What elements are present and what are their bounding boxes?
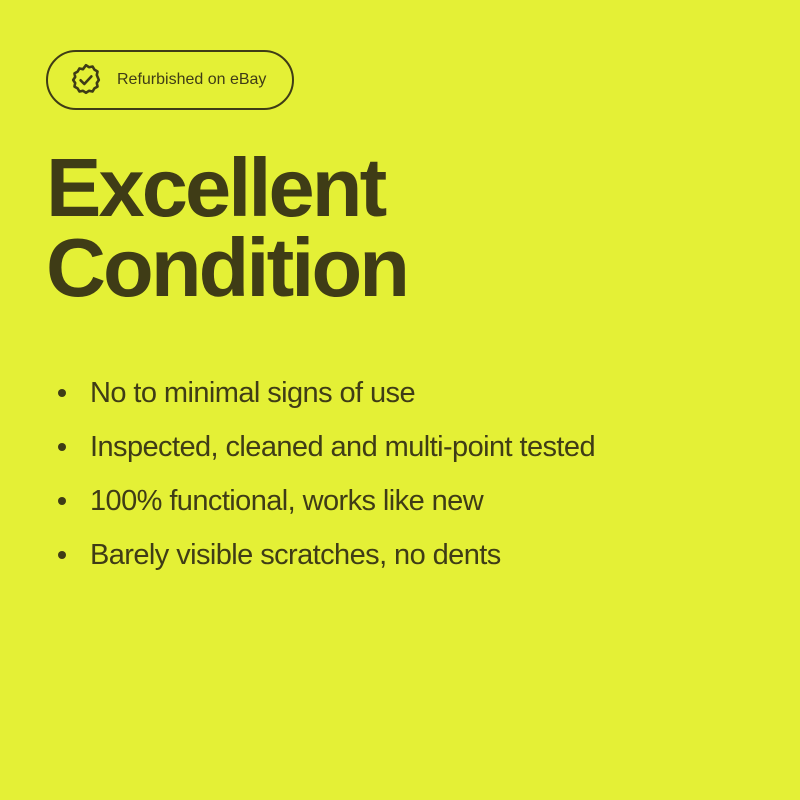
refurbished-badge[interactable]: Refurbished on eBay [46,50,294,110]
list-item: Inspected, cleaned and multi-point teste… [46,420,766,474]
bullet-dot-icon [58,551,66,559]
list-item: 100% functional, works like new [46,474,766,528]
refurbished-badge-label: Refurbished on eBay [117,71,266,89]
list-item: No to minimal signs of use [46,366,766,420]
condition-feature-list: No to minimal signs of use Inspected, cl… [46,366,766,582]
page-title-line-2: Condition [46,228,746,308]
list-item: Barely visible scratches, no dents [46,528,766,582]
bullet-dot-icon [58,443,66,451]
list-item-label: Inspected, cleaned and multi-point teste… [90,430,595,464]
list-item-label: 100% functional, works like new [90,484,483,518]
bullet-dot-icon [58,389,66,397]
list-item-label: Barely visible scratches, no dents [90,538,501,572]
bullet-dot-icon [58,497,66,505]
verified-rosette-check-icon [69,63,103,97]
list-item-label: No to minimal signs of use [90,376,415,410]
page-title: Excellent Condition [46,148,746,308]
page-title-line-1: Excellent [46,148,746,228]
refurbished-condition-card: Refurbished on eBay Excellent Condition … [0,0,800,800]
